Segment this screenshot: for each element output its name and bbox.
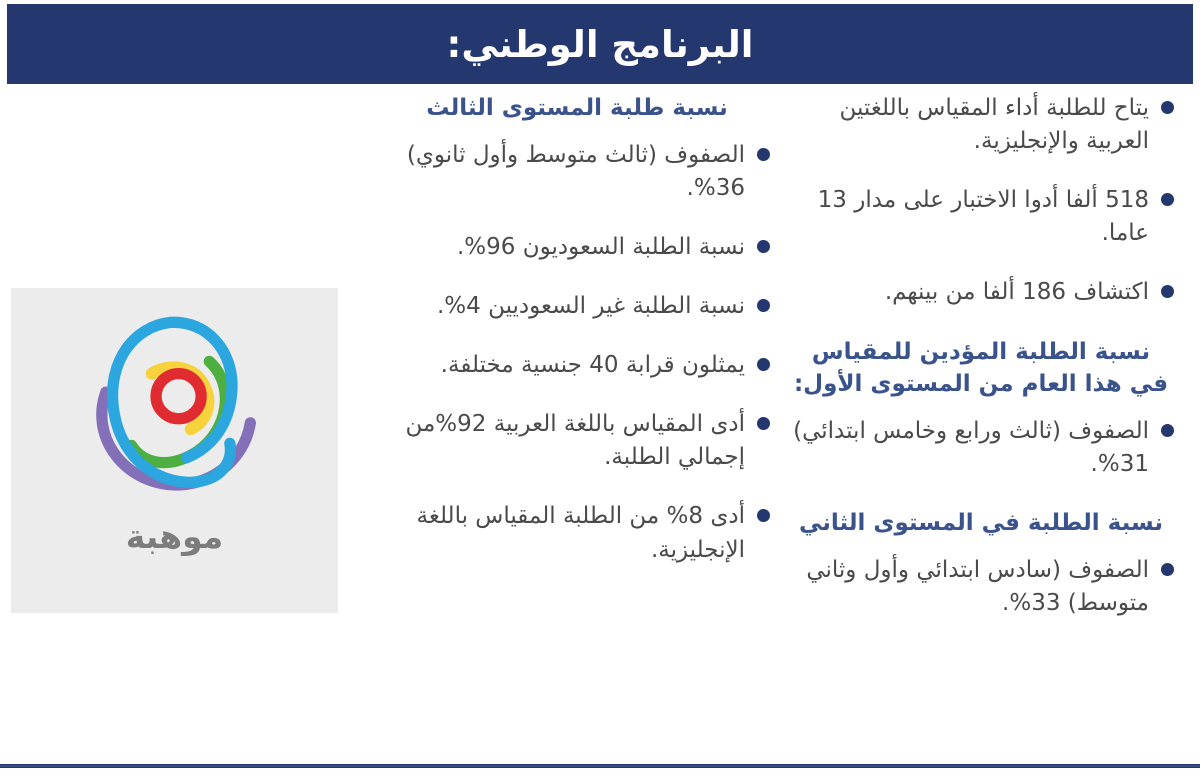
list-item: الصفوف (ثالث متوسط وأول ثانوي) 36%. [386, 139, 770, 205]
heading-level-one: نسبة الطلبة المؤدين للمقياس في هذا العام… [790, 336, 1174, 401]
list-item-text: 518 ألفا أدوا الاختبار على مدار 13 عاما. [790, 184, 1149, 250]
list-item: نسبة الطلبة السعوديون 96%. [386, 231, 770, 264]
bullet-dot-icon [1161, 424, 1174, 437]
bullet-dot-icon [757, 509, 770, 522]
list-item: أدى 8% من الطلبة المقياس باللغة الإنجليز… [386, 500, 770, 566]
logo-column: موهبة [0, 92, 360, 757]
bullet-dot-icon [757, 299, 770, 312]
list-item-text: نسبة الطلبة غير السعوديين 4%. [386, 290, 745, 323]
list-item: أدى المقياس باللغة العربية 92%من إجمالي … [386, 408, 770, 474]
list-item: اكتشاف 186 ألفا من بينهم. [790, 276, 1174, 309]
bullet-dot-icon [757, 358, 770, 371]
list-item: الصفوف (ثالث ورابع وخامس ابتدائي) 31%. [790, 415, 1174, 481]
header-banner: البرنامج الوطني: [7, 4, 1193, 84]
list-item-text: يمثلون قرابة 40 جنسية مختلفة. [386, 349, 745, 382]
heading-level-three: نسبة طلبة المستوى الثالث [386, 92, 770, 125]
list-item-text: الصفوف (ثالث ورابع وخامس ابتدائي) 31%. [790, 415, 1149, 481]
list-item-text: أدى 8% من الطلبة المقياس باللغة الإنجليز… [386, 500, 745, 566]
list-item-text: الصفوف (سادس ابتدائي وأول وثاني متوسط) 3… [790, 554, 1149, 620]
list-item: نسبة الطلبة غير السعوديين 4%. [386, 290, 770, 323]
list-item-text: يتاح للطلبة أداء المقياس باللغتين العربي… [790, 92, 1149, 158]
bullet-dot-icon [1161, 285, 1174, 298]
list-item: يتاح للطلبة أداء المقياس باللغتين العربي… [790, 92, 1174, 158]
logo-wordmark: موهبة [126, 517, 224, 556]
footer-divider [0, 764, 1200, 768]
list-item-text: الصفوف (ثالث متوسط وأول ثانوي) 36%. [386, 139, 745, 205]
left-bullets: الصفوف (ثالث متوسط وأول ثانوي) 36%. نسبة… [386, 139, 770, 567]
list-item: يمثلون قرابة 40 جنسية مختلفة. [386, 349, 770, 382]
heading-level-two: نسبة الطلبة في المستوى الثاني [790, 507, 1174, 540]
list-item-text: أدى المقياس باللغة العربية 92%من إجمالي … [386, 408, 745, 474]
left-column: نسبة طلبة المستوى الثالث الصفوف (ثالث مت… [360, 92, 780, 757]
mawhiba-logo-icon [72, 306, 277, 511]
right-bullets-level-one: الصفوف (ثالث ورابع وخامس ابتدائي) 31%. [790, 415, 1174, 481]
bullet-dot-icon [1161, 193, 1174, 206]
logo-panel: موهبة [11, 288, 338, 613]
list-item: الصفوف (سادس ابتدائي وأول وثاني متوسط) 3… [790, 554, 1174, 620]
list-item-text: اكتشاف 186 ألفا من بينهم. [790, 276, 1149, 309]
right-column: يتاح للطلبة أداء المقياس باللغتين العربي… [780, 92, 1200, 757]
bullet-dot-icon [757, 148, 770, 161]
bullet-dot-icon [757, 417, 770, 430]
right-bullets-level-two: الصفوف (سادس ابتدائي وأول وثاني متوسط) 3… [790, 554, 1174, 620]
bullet-dot-icon [1161, 563, 1174, 576]
right-bullets-top: يتاح للطلبة أداء المقياس باللغتين العربي… [790, 92, 1174, 310]
bullet-dot-icon [1161, 101, 1174, 114]
bullet-dot-icon [757, 240, 770, 253]
page-title: البرنامج الوطني: [447, 26, 754, 63]
list-item: 518 ألفا أدوا الاختبار على مدار 13 عاما. [790, 184, 1174, 250]
list-item-text: نسبة الطلبة السعوديون 96%. [386, 231, 745, 264]
content-area: يتاح للطلبة أداء المقياس باللغتين العربي… [0, 92, 1200, 757]
